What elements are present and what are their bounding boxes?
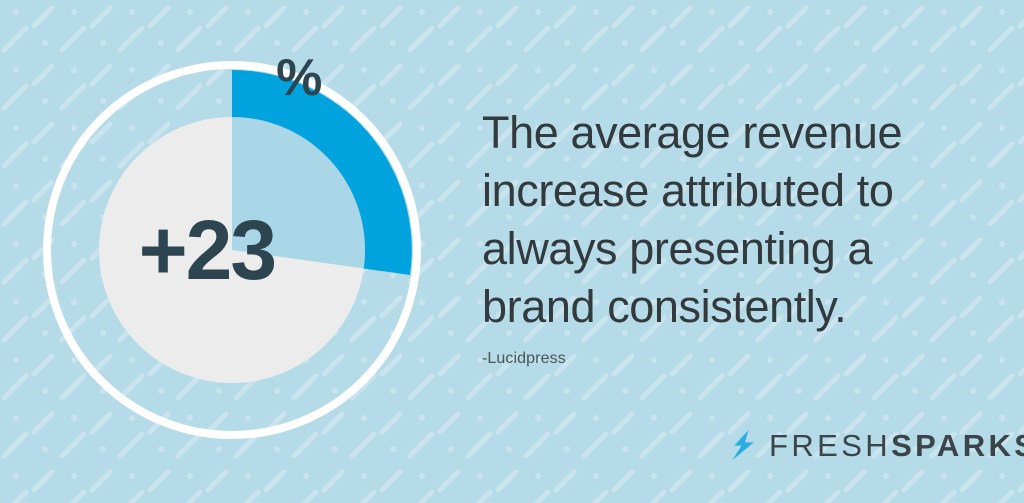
gauge-value-label: +23 % — [26, 44, 438, 456]
quote-text: The average revenue increase attributed … — [482, 104, 982, 336]
lightning-bolt-icon — [731, 430, 757, 460]
gauge-value-number: +23 — [139, 208, 276, 292]
logo-wordmark: FRESHSPARKS — [769, 430, 1024, 461]
quote-block: The average revenue increase attributed … — [482, 104, 982, 368]
freshsparks-logo[interactable]: FRESHSPARKS — [731, 423, 1024, 467]
gauge-chart: +23 % — [26, 44, 438, 456]
quote-attribution: -Lucidpress — [482, 350, 982, 368]
gauge-value-unit: % — [276, 52, 321, 104]
logo-word-fresh: FRESH — [769, 428, 891, 463]
infographic-canvas: +23 % The average revenue increase attri… — [0, 0, 1024, 503]
logo-word-sparks: SPARKS — [891, 428, 1024, 463]
